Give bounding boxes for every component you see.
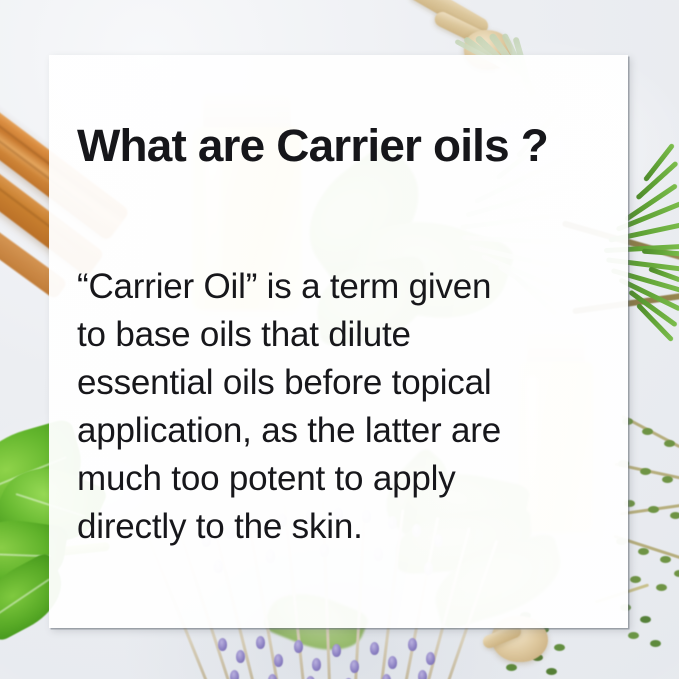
- page-title: What are Carrier oils ?: [77, 123, 628, 170]
- infographic-canvas: What are Carrier oils ? “Carrier Oil” is…: [0, 0, 679, 679]
- body-line: essential oils before topical: [77, 359, 623, 407]
- body-line: to base oils that dilute: [77, 311, 623, 359]
- body-line: application, as the latter are: [77, 407, 623, 455]
- body-line: directly to the skin.: [77, 503, 623, 551]
- body-line: “Carrier Oil” is a term given: [77, 263, 623, 311]
- body-paragraph: “Carrier Oil” is a term given to base oi…: [77, 263, 623, 551]
- content-card: What are Carrier oils ? “Carrier Oil” is…: [49, 55, 628, 628]
- body-line: much too potent to apply: [77, 455, 623, 503]
